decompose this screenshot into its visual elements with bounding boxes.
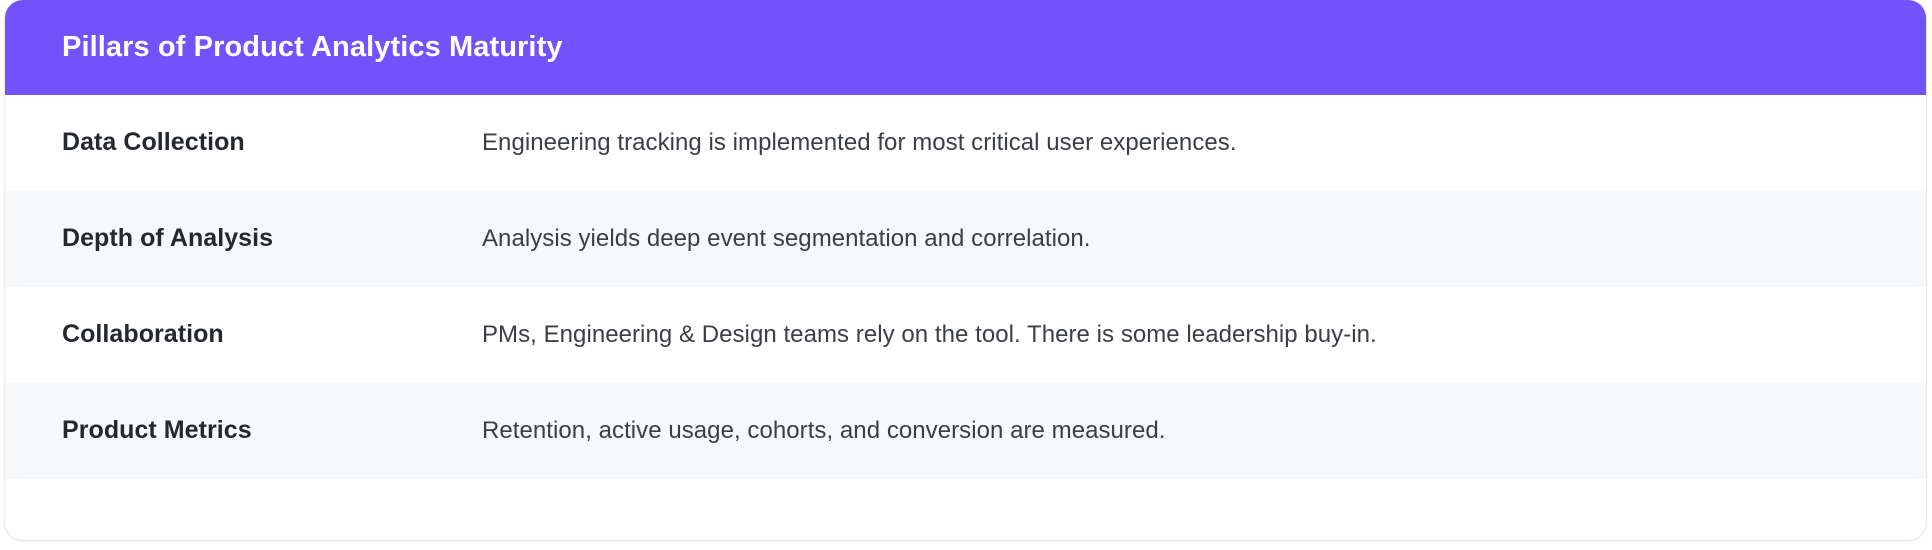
pillar-description: Retention, active usage, cohorts, and co… [482, 415, 1166, 446]
pillar-description: Analysis yields deep event segmentation … [482, 223, 1091, 254]
pillar-description: PMs, Engineering & Design teams rely on … [482, 319, 1377, 350]
maturity-pillars-card: Pillars of Product Analytics Maturity Da… [5, 0, 1926, 540]
pillar-label: Collaboration [62, 319, 482, 350]
list-item: Product Metrics Retention, active usage,… [5, 383, 1926, 479]
list-item: Data Collection Engineering tracking is … [5, 95, 1926, 191]
pillar-description: Engineering tracking is implemented for … [482, 127, 1237, 158]
pillar-label: Depth of Analysis [62, 223, 482, 254]
pillar-label: Product Metrics [62, 415, 482, 446]
pillars-list: Data Collection Engineering tracking is … [5, 95, 1926, 479]
page-title: Pillars of Product Analytics Maturity [62, 30, 563, 65]
pillar-label: Data Collection [62, 127, 482, 158]
list-item: Depth of Analysis Analysis yields deep e… [5, 191, 1926, 287]
card-header: Pillars of Product Analytics Maturity [5, 0, 1926, 95]
list-item: Collaboration PMs, Engineering & Design … [5, 287, 1926, 383]
